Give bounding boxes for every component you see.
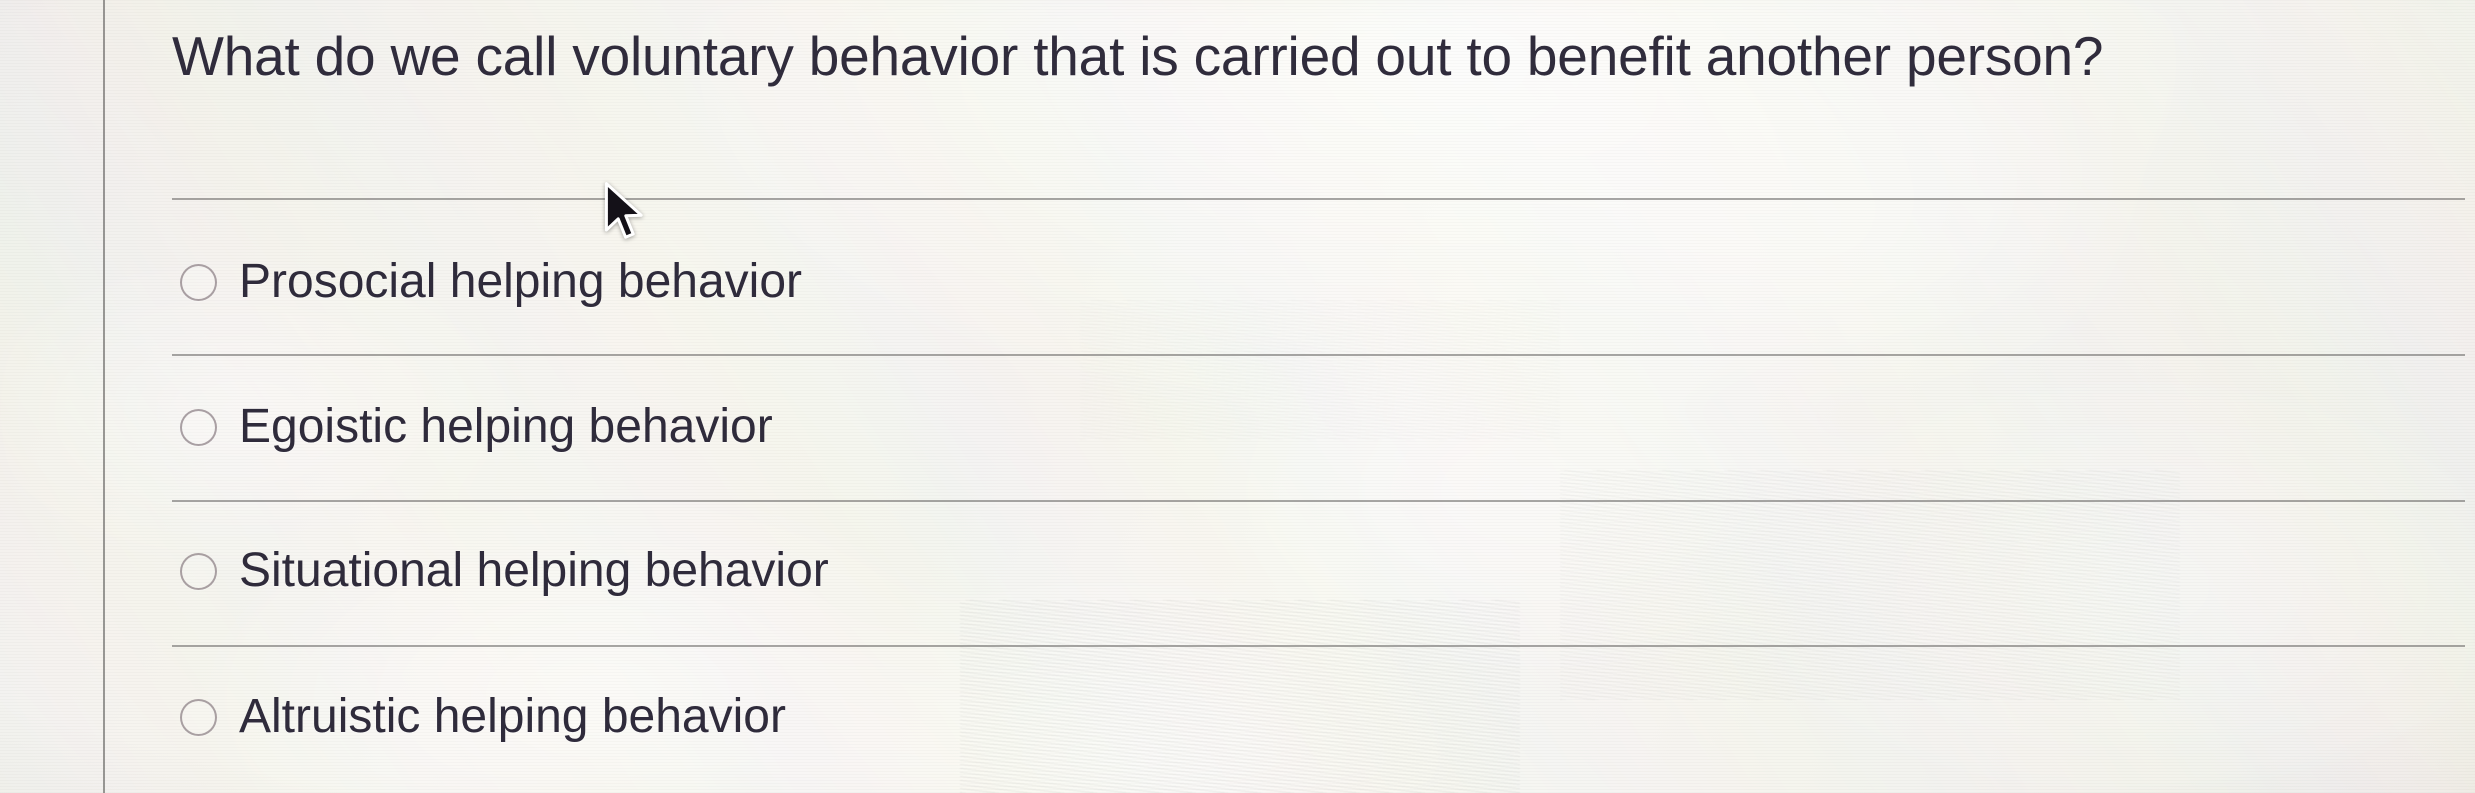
answer-option-altruistic[interactable]: Altruistic helping behavior	[180, 687, 786, 747]
answer-option-prosocial[interactable]: Prosocial helping behavior	[180, 252, 802, 312]
quiz-content: What do we call voluntary behavior that …	[0, 0, 2475, 793]
answer-option-label: Altruistic helping behavior	[239, 693, 786, 741]
left-rail-divider	[103, 0, 105, 793]
option-divider-2	[172, 354, 2465, 356]
answer-option-situational[interactable]: Situational helping behavior	[180, 541, 829, 601]
radio-button-situational[interactable]	[180, 553, 217, 590]
answer-option-label: Prosocial helping behavior	[239, 258, 802, 306]
option-divider-4	[172, 645, 2465, 647]
quiz-screen: What do we call voluntary behavior that …	[0, 0, 2475, 793]
radio-button-prosocial[interactable]	[180, 264, 217, 301]
answer-option-label: Situational helping behavior	[239, 547, 829, 595]
question-title: What do we call voluntary behavior that …	[172, 26, 2372, 88]
answer-option-egoistic[interactable]: Egoistic helping behavior	[180, 397, 773, 457]
option-divider-1	[172, 198, 2465, 200]
answer-option-label: Egoistic helping behavior	[239, 403, 773, 451]
radio-button-egoistic[interactable]	[180, 409, 217, 446]
option-divider-3	[172, 500, 2465, 502]
radio-button-altruistic[interactable]	[180, 699, 217, 736]
